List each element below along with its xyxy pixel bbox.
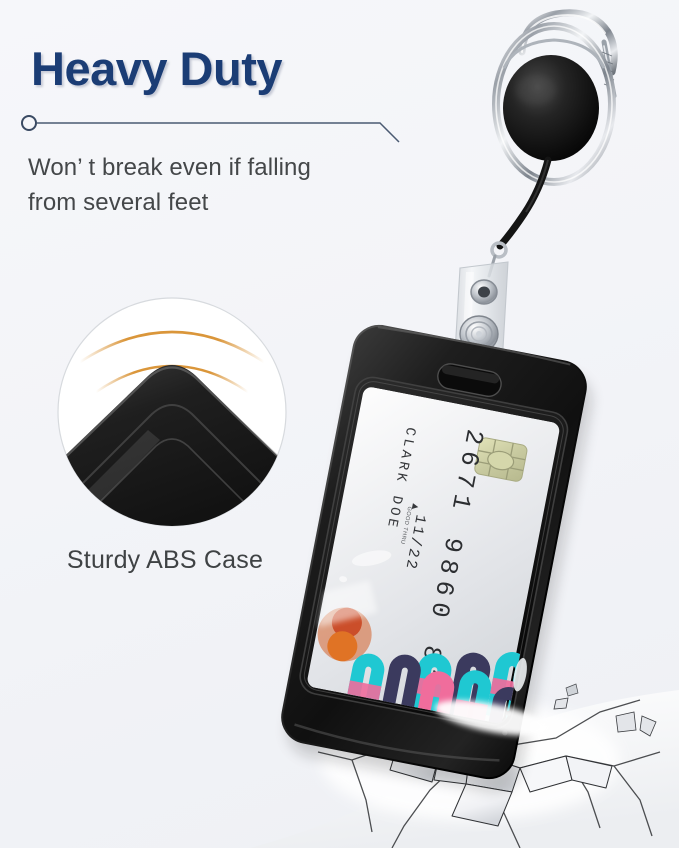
- product-feature-image: 2671 9860 8300 0202 CLARK DOE GOOD THRU …: [0, 0, 679, 848]
- carabiner-badge-reel: [489, 13, 614, 276]
- divider-line: [37, 123, 399, 142]
- sturdy-abs-case-badge: [56, 296, 288, 528]
- page-subtitle: Won’ t break even if falling from severa…: [28, 150, 311, 220]
- divider-circle-icon: [22, 116, 36, 130]
- divider: [18, 112, 408, 152]
- abs-case-caption: Sturdy ABS Case: [0, 546, 330, 575]
- page-title: Heavy Duty: [31, 41, 282, 96]
